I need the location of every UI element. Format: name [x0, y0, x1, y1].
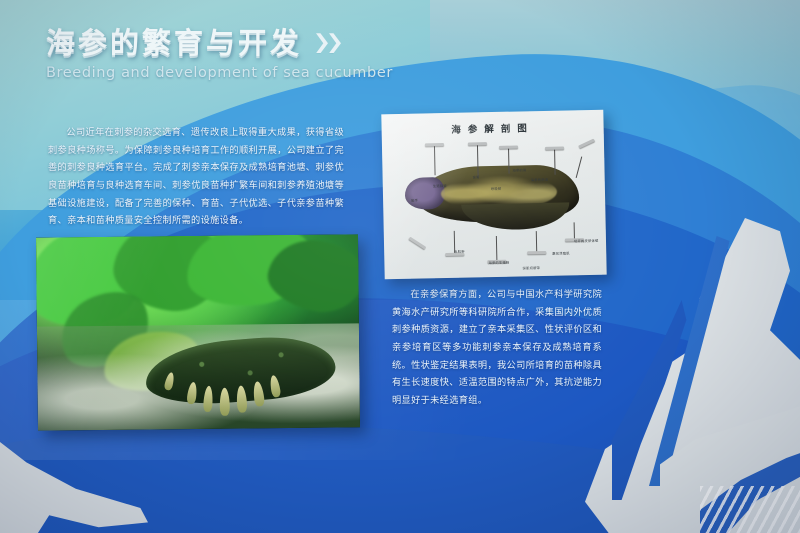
anatomy-label: 食管 — [473, 174, 480, 179]
right-paragraph: 在亲参保育方面，公司与中国水产科学研究院黄海水产研究所等科研院所合作，采集国内外… — [392, 286, 602, 410]
anatomy-label: 海参的肠道 — [531, 177, 549, 182]
display-board-scene: 海参的繁育与开发 Breeding and development of sea… — [0, 0, 800, 533]
page-title: 海参的繁育与开发 — [46, 28, 466, 58]
sea-cucumber-anatomy-board: 海参解剖图 生殖腺管触手食管呼吸树海参的胃海参的肠道纵肌带海参的生殖腺纵肌切断带… — [381, 110, 606, 280]
anatomy-label: 囊状泄殖肌 — [552, 250, 570, 255]
double-chevron-right-icon — [316, 31, 350, 55]
board-header: 海参的繁育与开发 Breeding and development of sea… — [46, 28, 466, 81]
left-paragraph: 公司近年在刺参的杂交选育、遗传改良上取得重大成果，获得省级刺参良种场称号。为保障… — [48, 124, 344, 230]
photo-glare — [36, 234, 360, 430]
anatomy-label: 生殖腺管 — [433, 183, 447, 188]
anatomy-label: 海参的生殖腺 — [488, 260, 509, 265]
anatomy-label: 切开的皮肤体壁 — [574, 238, 599, 244]
anatomy-label: 海参的胃 — [512, 167, 526, 172]
anatomy-label: 呼吸树 — [491, 186, 502, 191]
right-paragraph-text: 在亲参保育方面，公司与中国水产科学研究院黄海水产研究所等科研院所合作，采集国内外… — [392, 286, 602, 410]
page-title-text: 海参的繁育与开发 — [46, 28, 302, 58]
anatomy-label: 纵肌切断带 — [522, 265, 540, 270]
left-paragraph-text: 公司近年在刺参的杂交选育、遗传改良上取得重大成果，获得省级刺参良种场称号。为保障… — [48, 124, 344, 230]
panel-glare — [381, 110, 606, 280]
stripe-decoration — [700, 486, 800, 533]
anatomy-label: 触手 — [411, 198, 418, 203]
sea-cucumber-habitat-photo — [36, 234, 360, 430]
page-subtitle: Breeding and development of sea cucumber — [46, 65, 466, 81]
anatomy-label: 纵肌带 — [454, 249, 465, 254]
